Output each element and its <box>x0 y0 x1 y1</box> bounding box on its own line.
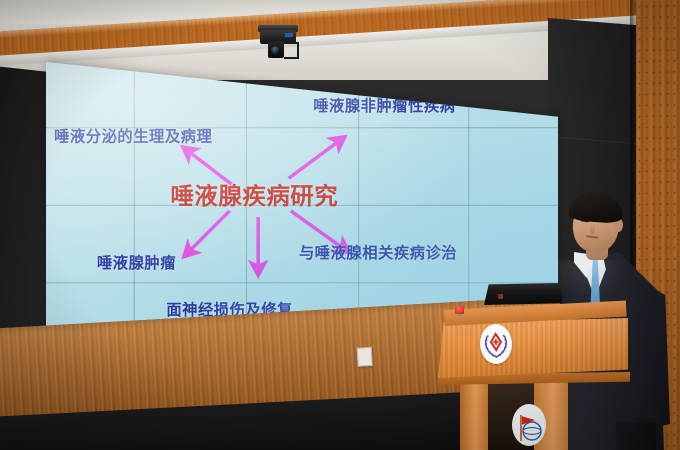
presenter-hair <box>568 190 624 224</box>
lectern-emblem <box>479 323 512 364</box>
laurel-cross-emblem-icon <box>479 323 512 364</box>
presentation-photo-scene: 唾液分泌的生理及病理 唾液腺非肿瘤性疾病 唾液腺疾病研究 唾液腺肿瘤 与唾液腺相… <box>0 0 680 450</box>
lectern-floor-emblem <box>512 404 546 446</box>
lectern-base-left-post <box>460 382 488 450</box>
slide-branch-lower-left: 唾液腺肿瘤 <box>97 252 176 273</box>
presenter-nose <box>590 224 595 234</box>
wall-switch-plate[interactable] <box>357 347 373 367</box>
floor-emblem-art <box>512 404 546 446</box>
lectern <box>438 300 638 450</box>
screen-surface: 唾液分泌的生理及病理 唾液腺非肿瘤性疾病 唾液腺疾病研究 唾液腺肿瘤 与唾液腺相… <box>46 62 558 335</box>
microphone-indicator[interactable] <box>455 306 464 314</box>
laptop-logo <box>498 294 503 299</box>
lectern-wood-grain <box>438 318 628 378</box>
slide-branch-upper-right: 唾液腺非肿瘤性疾病 <box>313 95 455 116</box>
lectern-front-panel <box>438 318 628 378</box>
projector-lens <box>271 46 280 55</box>
projector-bracket-arm <box>284 42 299 59</box>
slide-center-title: 唾液腺疾病研究 <box>170 176 338 211</box>
projector-label-tag <box>285 33 293 37</box>
ceiling-projector <box>258 22 298 58</box>
slide-branch-lower-right: 与唾液腺相关疾病诊治 <box>299 242 457 263</box>
slide-branch-upper-left: 唾液分泌的生理及病理 <box>54 125 212 146</box>
